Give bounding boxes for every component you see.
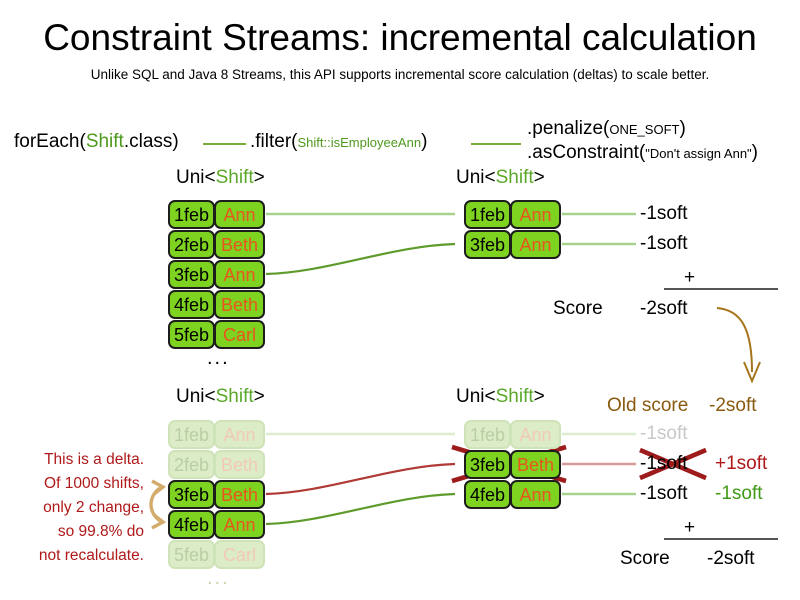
shift-card-date: 1feb — [464, 200, 511, 229]
shift-card-employee: Ann — [214, 510, 265, 539]
delta-annotation-line: This is a delta. — [4, 448, 144, 472]
sum-rule — [664, 538, 778, 540]
code-filter-suffix: ) — [421, 131, 427, 152]
shift-card[interactable]: 2feb Beth — [168, 450, 266, 479]
shift-card-employee: Ann — [214, 420, 265, 449]
delta-annotation: This is a delta. Of 1000 shifts, only 2 … — [4, 448, 144, 568]
shift-card-employee: Beth — [214, 290, 265, 319]
shift-card-date: 3feb — [168, 480, 215, 509]
shift-card-date: 1feb — [464, 420, 511, 449]
sum-plus-sign: + — [684, 268, 695, 287]
filtered-shift-card-added[interactable]: 4feb Ann — [464, 480, 562, 509]
shift-card-date: 4feb — [168, 510, 215, 539]
shift-card-employee: Carl — [214, 320, 265, 349]
wire-top-3feb — [266, 244, 455, 274]
code-penalize-prefix: .penalize( — [527, 118, 609, 139]
uni-suffix: > — [254, 167, 265, 188]
shift-card[interactable]: 2feb Beth — [168, 230, 266, 259]
shift-card-employee: Ann — [510, 200, 561, 229]
old-score-value: -2soft — [709, 395, 757, 417]
filtered-shift-card[interactable]: 1feb Ann — [464, 420, 562, 449]
delta-label-added: +1soft — [715, 453, 767, 475]
delta-label-kept: -1soft — [715, 483, 763, 505]
score-total: -2soft — [640, 298, 688, 320]
code-filter-prefix: .filter( — [250, 131, 298, 152]
slide-canvas: Constraint Streams: incremental calculat… — [0, 0, 800, 600]
swap-arrow — [151, 481, 163, 528]
shift-card[interactable]: 5feb Carl — [168, 540, 266, 569]
shift-card-employee: Ann — [510, 230, 561, 259]
shift-card-date: 3feb — [168, 260, 215, 289]
shift-card-date: 5feb — [168, 320, 215, 349]
page-subtitle: Unlike SQL and Java 8 Streams, this API … — [0, 66, 800, 84]
old-score-label: Old score — [607, 395, 688, 417]
uni-prefix: Uni< — [456, 167, 496, 188]
shift-card-date: 4feb — [168, 290, 215, 319]
penalty-label: -1soft — [640, 423, 688, 445]
delta-annotation-line: not recalculate. — [4, 544, 144, 568]
uni-prefix: Uni< — [176, 386, 216, 407]
source-list-ellipsis: ... — [207, 568, 230, 588]
stream-label-bottom-left: Uni<Shift> — [176, 386, 265, 408]
page-title: Constraint Streams: incremental calculat… — [0, 16, 800, 60]
score-total: -2soft — [707, 548, 755, 570]
shift-card-employee: Beth — [510, 450, 561, 479]
shift-card-date: 3feb — [464, 230, 511, 259]
penalty-label-removed: -1soft — [640, 453, 688, 475]
uni-type: Shift — [216, 386, 254, 407]
code-penalize: .penalize(ONE_SOFT) — [527, 117, 686, 142]
shift-card-employee: Beth — [214, 480, 265, 509]
code-as-constraint-arg: "Don't assign Ann" — [645, 146, 751, 161]
shift-card-date: 4feb — [464, 480, 511, 509]
shift-card[interactable]: 3feb Ann — [168, 260, 266, 289]
score-label: Score — [620, 548, 670, 570]
code-foreach: forEach(Shift.class) — [14, 130, 179, 154]
shift-card-employee: Ann — [214, 200, 265, 229]
penalty-label: -1soft — [640, 203, 688, 225]
code-foreach-prefix: forEach( — [14, 131, 86, 152]
code-foreach-type: Shift — [86, 131, 124, 152]
penalty-label: -1soft — [640, 483, 688, 505]
shift-card-date: 3feb — [464, 450, 511, 479]
shift-card[interactable]: 1feb Ann — [168, 200, 266, 229]
sum-plus-sign: + — [684, 518, 695, 537]
code-foreach-suffix: .class) — [124, 131, 179, 152]
code-as-constraint-prefix: .asConstraint( — [527, 142, 645, 163]
shift-card-employee: Ann — [214, 260, 265, 289]
score-label: Score — [553, 298, 603, 320]
shift-card[interactable]: 1feb Ann — [168, 420, 266, 449]
shift-card-date: 2feb — [168, 230, 215, 259]
shift-card-date: 5feb — [168, 540, 215, 569]
pipeline-connector-2 — [471, 143, 521, 145]
uni-type: Shift — [496, 167, 534, 188]
shift-card-employee: Beth — [214, 450, 265, 479]
shift-card-changed[interactable]: 4feb Ann — [168, 510, 266, 539]
code-penalize-arg: ONE_SOFT — [609, 122, 679, 137]
shift-card-date: 1feb — [168, 200, 215, 229]
source-list-ellipsis: ... — [207, 348, 230, 368]
code-filter-arg: Shift::isEmployeeAnn — [298, 135, 422, 150]
delta-annotation-line: so 99.8% do — [4, 520, 144, 544]
stream-label-top-right: Uni<Shift> — [456, 167, 545, 189]
uni-type: Shift — [496, 386, 534, 407]
code-penalize-suffix: ) — [679, 118, 685, 139]
shift-card-changed[interactable]: 3feb Beth — [168, 480, 266, 509]
shift-card-date: 1feb — [168, 420, 215, 449]
delta-annotation-line: only 2 change, — [4, 496, 144, 520]
filtered-shift-card[interactable]: 1feb Ann — [464, 200, 562, 229]
uni-suffix: > — [254, 386, 265, 407]
wire-bottom-4feb-added — [266, 494, 455, 524]
code-filter: .filter(Shift::isEmployeeAnn) — [250, 130, 427, 155]
uni-prefix: Uni< — [456, 386, 496, 407]
shift-card-employee: Beth — [214, 230, 265, 259]
shift-card-employee: Ann — [510, 420, 561, 449]
filtered-shift-card[interactable]: 3feb Ann — [464, 230, 562, 259]
code-as-constraint-suffix: ) — [752, 142, 758, 163]
code-as-constraint: .asConstraint("Don't assign Ann") — [527, 141, 758, 166]
uni-prefix: Uni< — [176, 167, 216, 188]
sum-rule — [664, 288, 778, 290]
shift-card-date: 2feb — [168, 450, 215, 479]
pipeline-connector-1 — [203, 143, 246, 145]
filtered-shift-card-removed[interactable]: 3feb Beth — [464, 450, 562, 479]
uni-type: Shift — [216, 167, 254, 188]
uni-suffix: > — [534, 167, 545, 188]
stream-label-top-left: Uni<Shift> — [176, 167, 265, 189]
shift-card[interactable]: 4feb Beth — [168, 290, 266, 319]
shift-card-employee: Ann — [510, 480, 561, 509]
shift-card[interactable]: 5feb Carl — [168, 320, 266, 349]
old-score-arrow — [717, 308, 760, 381]
uni-suffix: > — [534, 386, 545, 407]
wire-bottom-3feb-removed — [266, 464, 455, 494]
stream-label-bottom-right: Uni<Shift> — [456, 386, 545, 408]
penalty-label: -1soft — [640, 233, 688, 255]
delta-annotation-line: Of 1000 shifts, — [4, 472, 144, 496]
shift-card-employee: Carl — [214, 540, 265, 569]
